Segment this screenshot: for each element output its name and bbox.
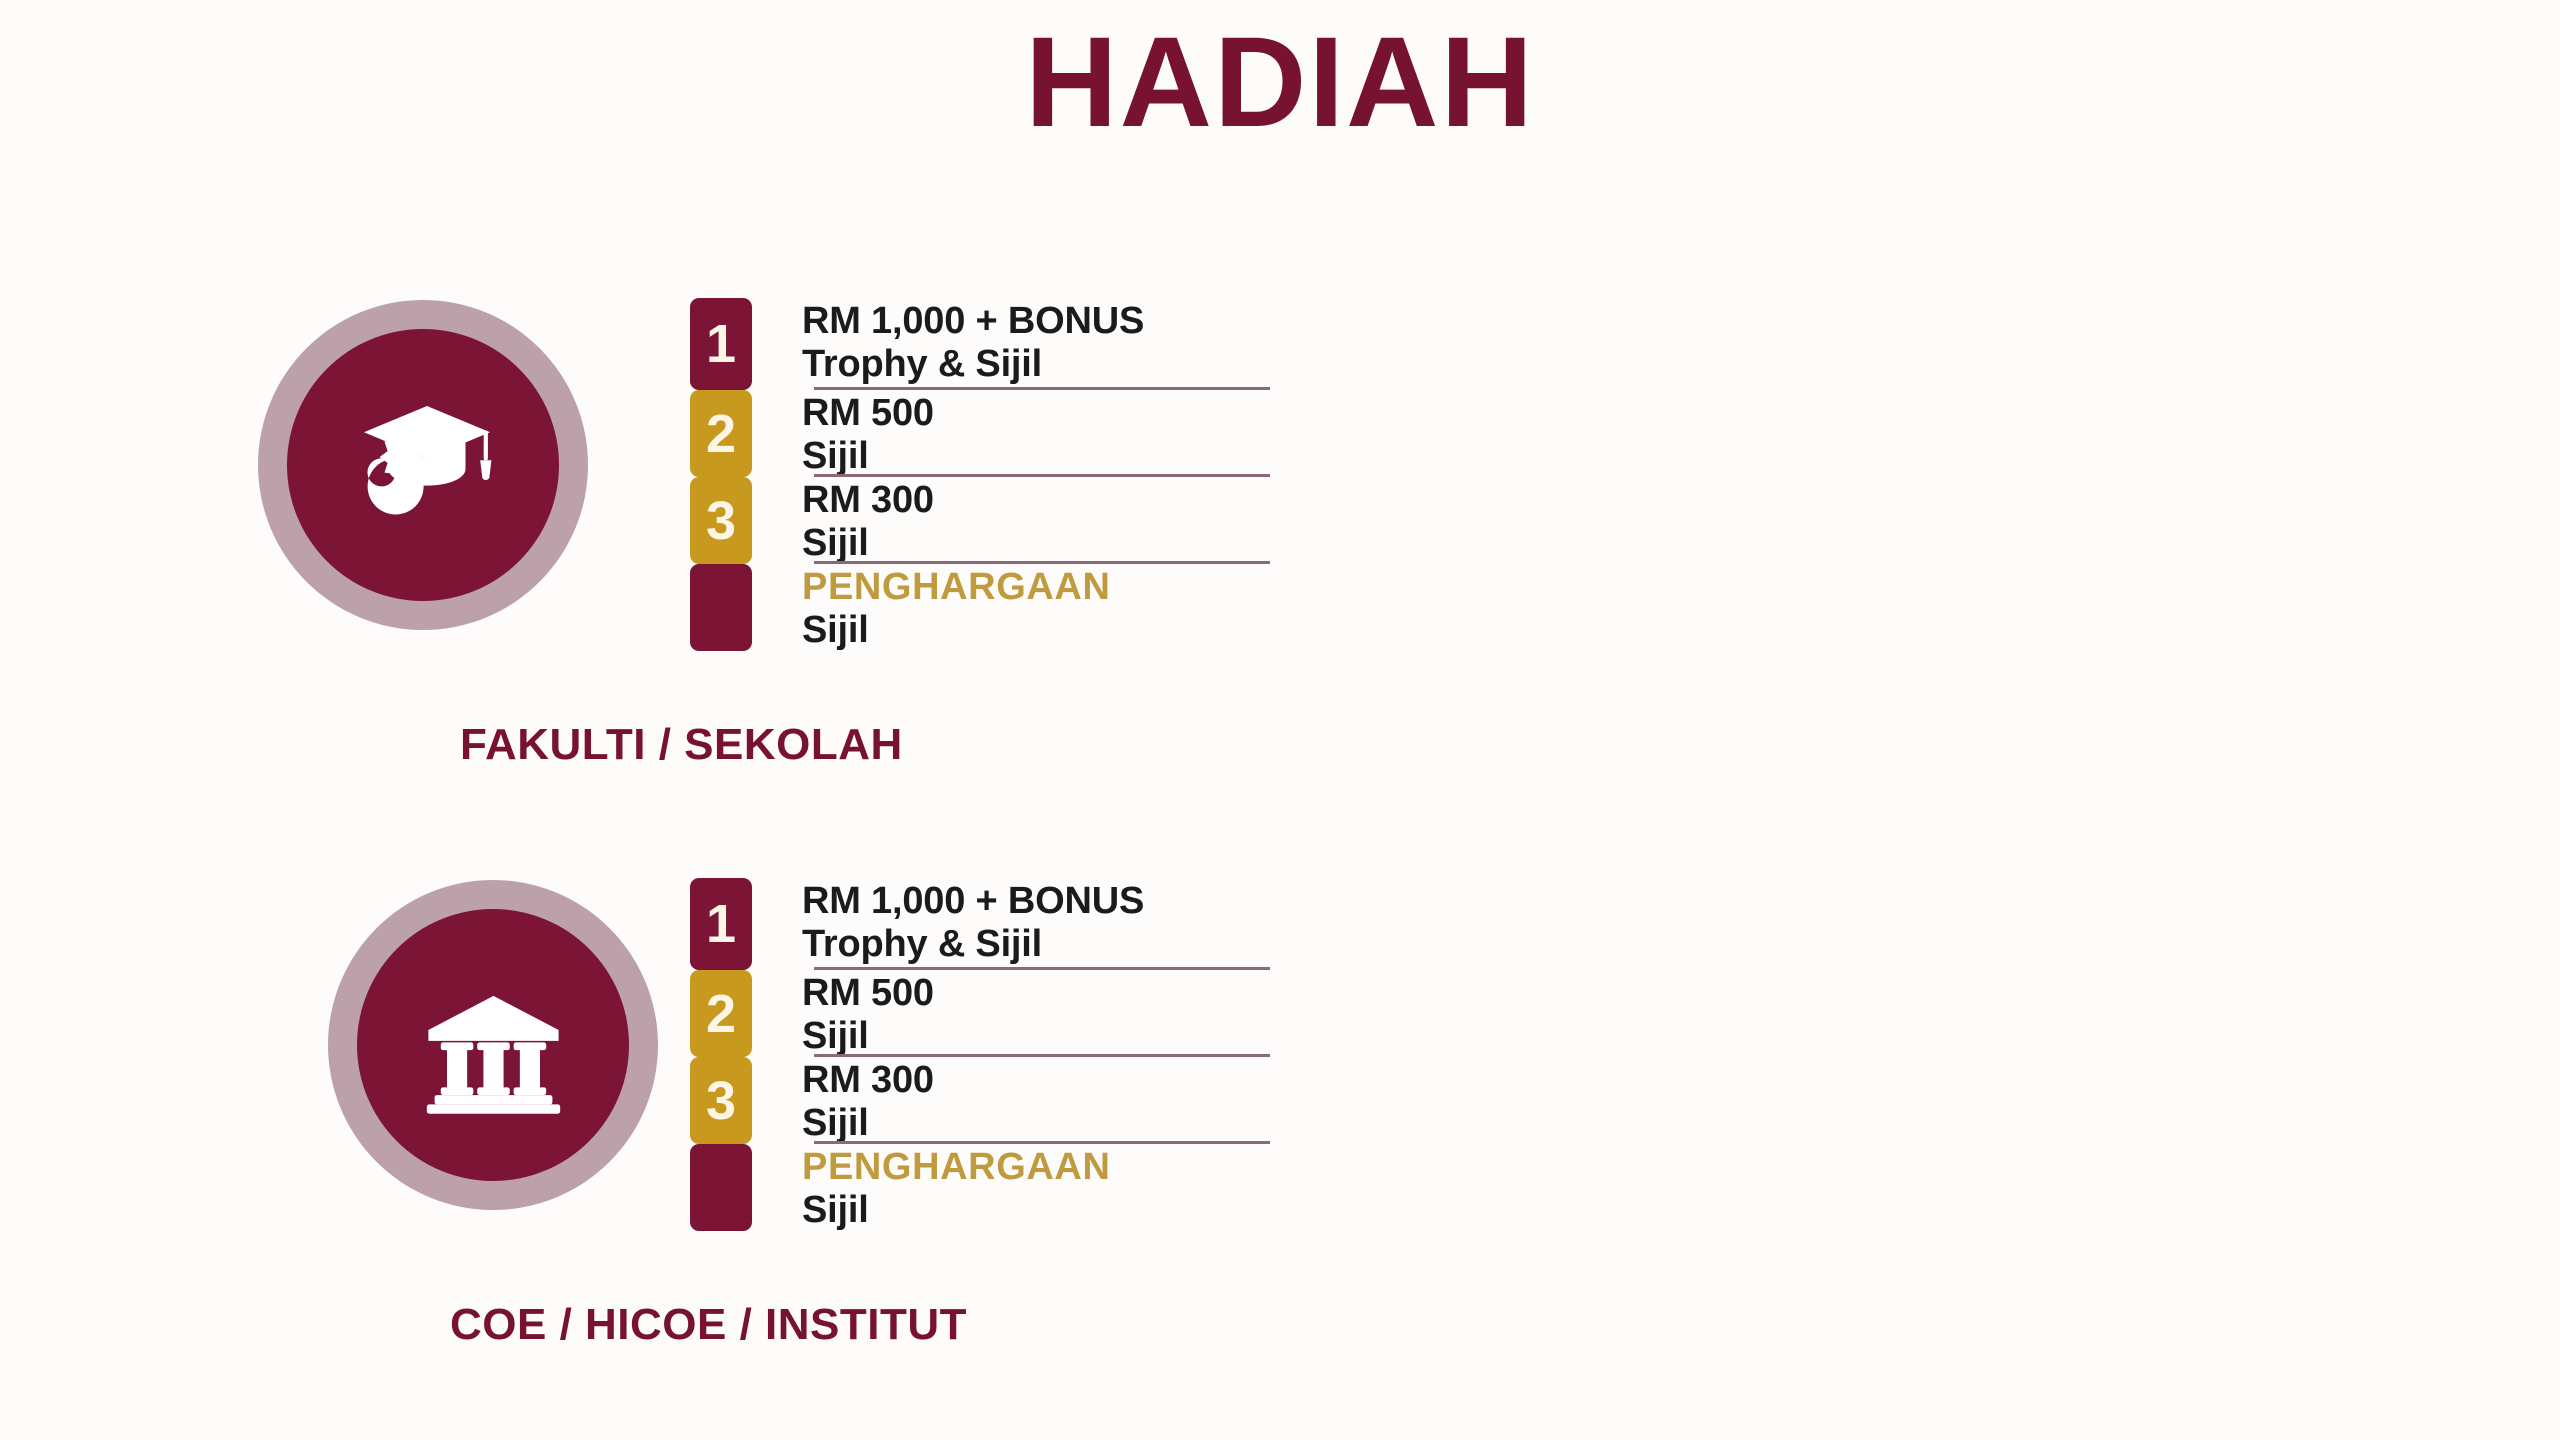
category-caption: COE / HICOE / INSTITUT (450, 1300, 967, 1350)
prize-details: RM 500 Sijil (752, 390, 1270, 477)
prize-details: RM 500 Sijil (752, 970, 1270, 1057)
prize-extra: Sijil (802, 522, 1270, 565)
prize-rank-badge: 1 (690, 298, 752, 390)
award-category-grid: 1 RM 1,000 + BONUS Trophy & Sijil 2 RM 5… (0, 280, 2560, 1440)
category-icon-medallion (258, 300, 588, 630)
award-category-card-jabatan-pejabat: 1 RM 1,000 + BONUS Trophy & Sijil 2 RM 5… (1280, 280, 2560, 860)
prize-amount: RM 1,000 + BONUS (802, 300, 1270, 343)
prize-details: RM 300 Sijil (752, 477, 1270, 564)
prize-row: 3 RM 300 Sijil (690, 477, 1270, 564)
prize-details: PENGHARGAAN Sijil (752, 564, 1270, 651)
award-category-card-fakulti-sekolah: 1 RM 1,000 + BONUS Trophy & Sijil 2 RM 5… (0, 280, 1280, 860)
prize-row: 2 RM 500 Sijil (690, 390, 1270, 477)
prize-rank-badge (690, 1144, 752, 1231)
category-icon-medallion (328, 880, 658, 1210)
prize-extra: Sijil (802, 609, 1270, 652)
prize-amount: RM 500 (802, 972, 1270, 1015)
prize-rank-badge: 3 (690, 477, 752, 564)
prize-amount: RM 1,000 + BONUS (802, 880, 1270, 923)
prize-details: RM 1,000 + BONUS Trophy & Sijil (752, 298, 1270, 390)
prize-amount: RM 300 (802, 479, 1270, 522)
category-caption: FAKULTI / SEKOLAH (460, 720, 903, 770)
prize-row: 3 RM 300 Sijil (690, 1057, 1270, 1144)
prize-details: RM 1,000 + BONUS Trophy & Sijil (752, 878, 1270, 970)
prize-extra: Sijil (802, 1102, 1270, 1145)
prize-extra: Trophy & Sijil (802, 923, 1270, 966)
prize-amount: RM 300 (802, 1059, 1270, 1102)
prize-row: PENGHARGAAN Sijil (690, 1144, 1270, 1231)
prize-rank-badge: 2 (690, 390, 752, 477)
prize-rank-badge (690, 564, 752, 651)
prize-amount: PENGHARGAAN (802, 1146, 1270, 1189)
prize-row: 1 RM 1,000 + BONUS Trophy & Sijil (690, 878, 1270, 970)
prize-extra: Sijil (802, 1189, 1270, 1232)
page-title: HADIAH (0, 16, 2560, 150)
prize-amount: PENGHARGAAN (802, 566, 1270, 609)
prize-list: 1 RM 1,000 + BONUS Trophy & Sijil 2 RM 5… (690, 878, 1270, 1231)
prize-row: 1 RM 1,000 + BONUS Trophy & Sijil (690, 298, 1270, 390)
prize-details: PENGHARGAAN Sijil (752, 1144, 1270, 1231)
medallion-inner-disc (357, 909, 629, 1181)
award-category-card-coe-hicoe-institut: 1 RM 1,000 + BONUS Trophy & Sijil 2 RM 5… (0, 860, 1280, 1440)
prize-amount: RM 500 (802, 392, 1270, 435)
prize-extra: Trophy & Sijil (802, 343, 1270, 386)
prize-list: 1 RM 1,000 + BONUS Trophy & Sijil 2 RM 5… (690, 298, 1270, 651)
prize-row: PENGHARGAAN Sijil (690, 564, 1270, 651)
prize-rank-badge: 1 (690, 878, 752, 970)
prize-extra: Sijil (802, 1015, 1270, 1058)
classical-building-icon (416, 968, 571, 1123)
prize-extra: Sijil (802, 435, 1270, 478)
medallion-inner-disc (287, 329, 559, 601)
graduation-cap-gear-icon (336, 378, 511, 553)
award-category-card-kolej: 1 RM 1,000 + BONUS Trophy & Sijil 2 RM 5… (1280, 860, 2560, 1440)
prize-row: 2 RM 500 Sijil (690, 970, 1270, 1057)
prize-details: RM 300 Sijil (752, 1057, 1270, 1144)
poster-root: HADIAH (0, 0, 2560, 1440)
prize-rank-badge: 3 (690, 1057, 752, 1144)
prize-rank-badge: 2 (690, 970, 752, 1057)
